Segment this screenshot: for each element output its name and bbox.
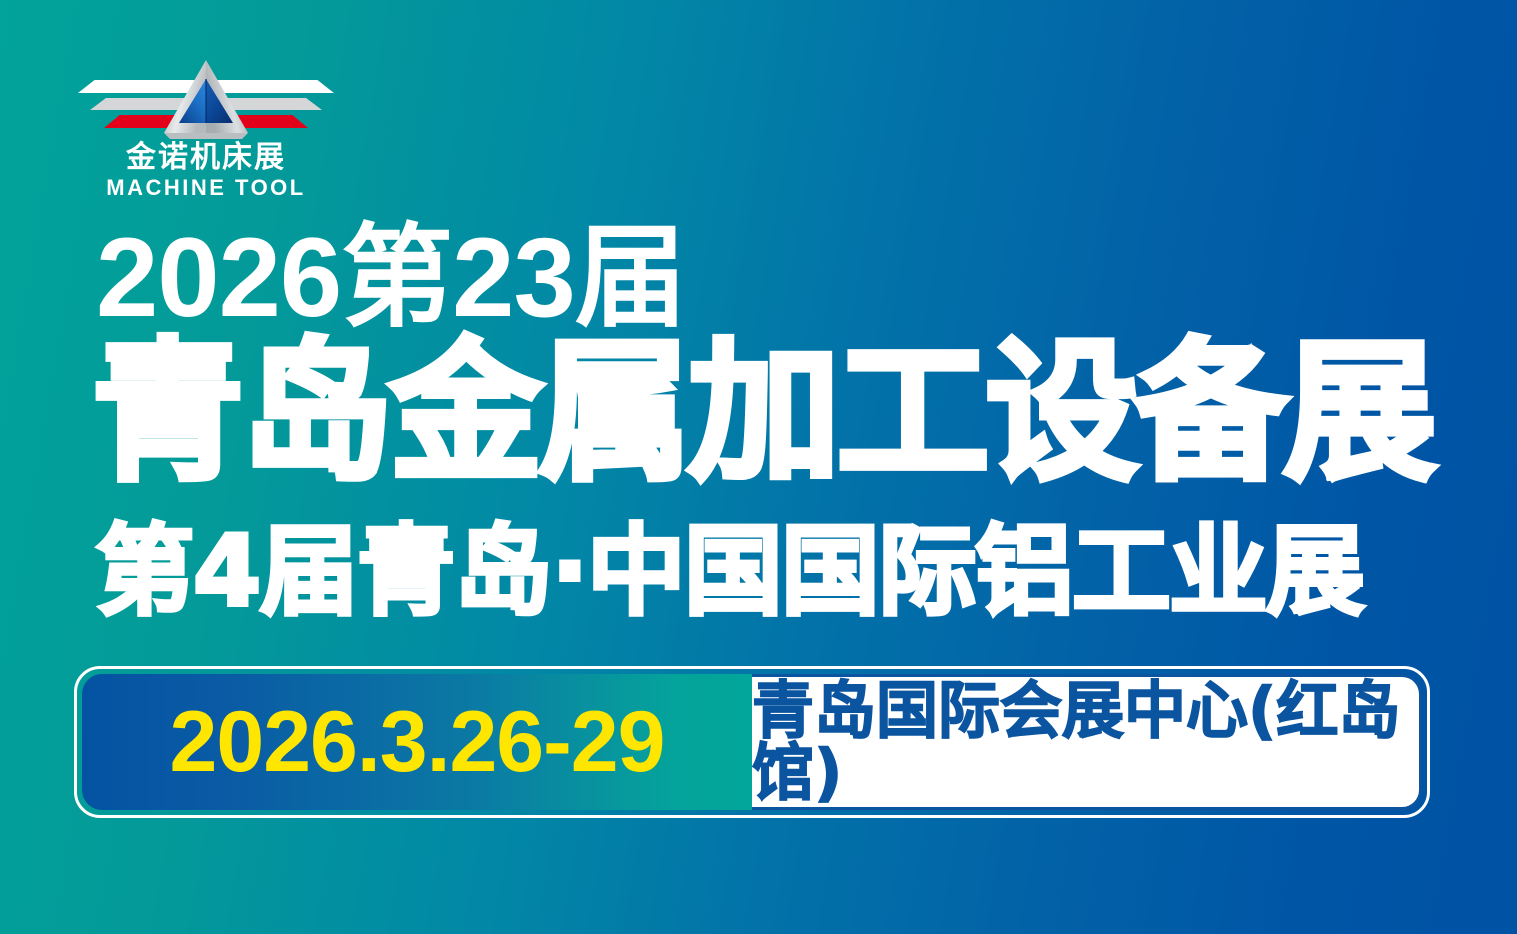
exhibition-logo: 金诺机床展 MACHINE TOOL <box>72 57 340 189</box>
event-venue-box: 青岛国际会展中心(红岛馆) <box>752 674 1422 810</box>
headline-edition: 2026第23届 <box>96 222 686 334</box>
event-info-badge: 2026.3.26-29 青岛国际会展中心(红岛馆) <box>74 666 1430 818</box>
event-date-box: 2026.3.26-29 <box>82 674 752 810</box>
headline-main-title: 青岛金属加工设备展 <box>92 337 1433 489</box>
triangle-emblem-icon <box>162 59 250 141</box>
logo-name-en: MACHINE TOOL <box>72 177 340 199</box>
headline-subtitle: 第4届青岛·中国国际铝工业展 <box>96 523 1363 621</box>
logo-name-cn: 金诺机床展 <box>72 143 340 173</box>
event-date-text: 2026.3.26-29 <box>170 699 665 785</box>
event-info-badge-inner: 2026.3.26-29 青岛国际会展中心(红岛馆) <box>82 674 1422 810</box>
event-poster: 金诺机床展 MACHINE TOOL 2026第23届 青岛金属加工设备展 第4… <box>0 0 1517 934</box>
event-venue-text: 青岛国际会展中心(红岛馆) <box>752 680 1419 804</box>
